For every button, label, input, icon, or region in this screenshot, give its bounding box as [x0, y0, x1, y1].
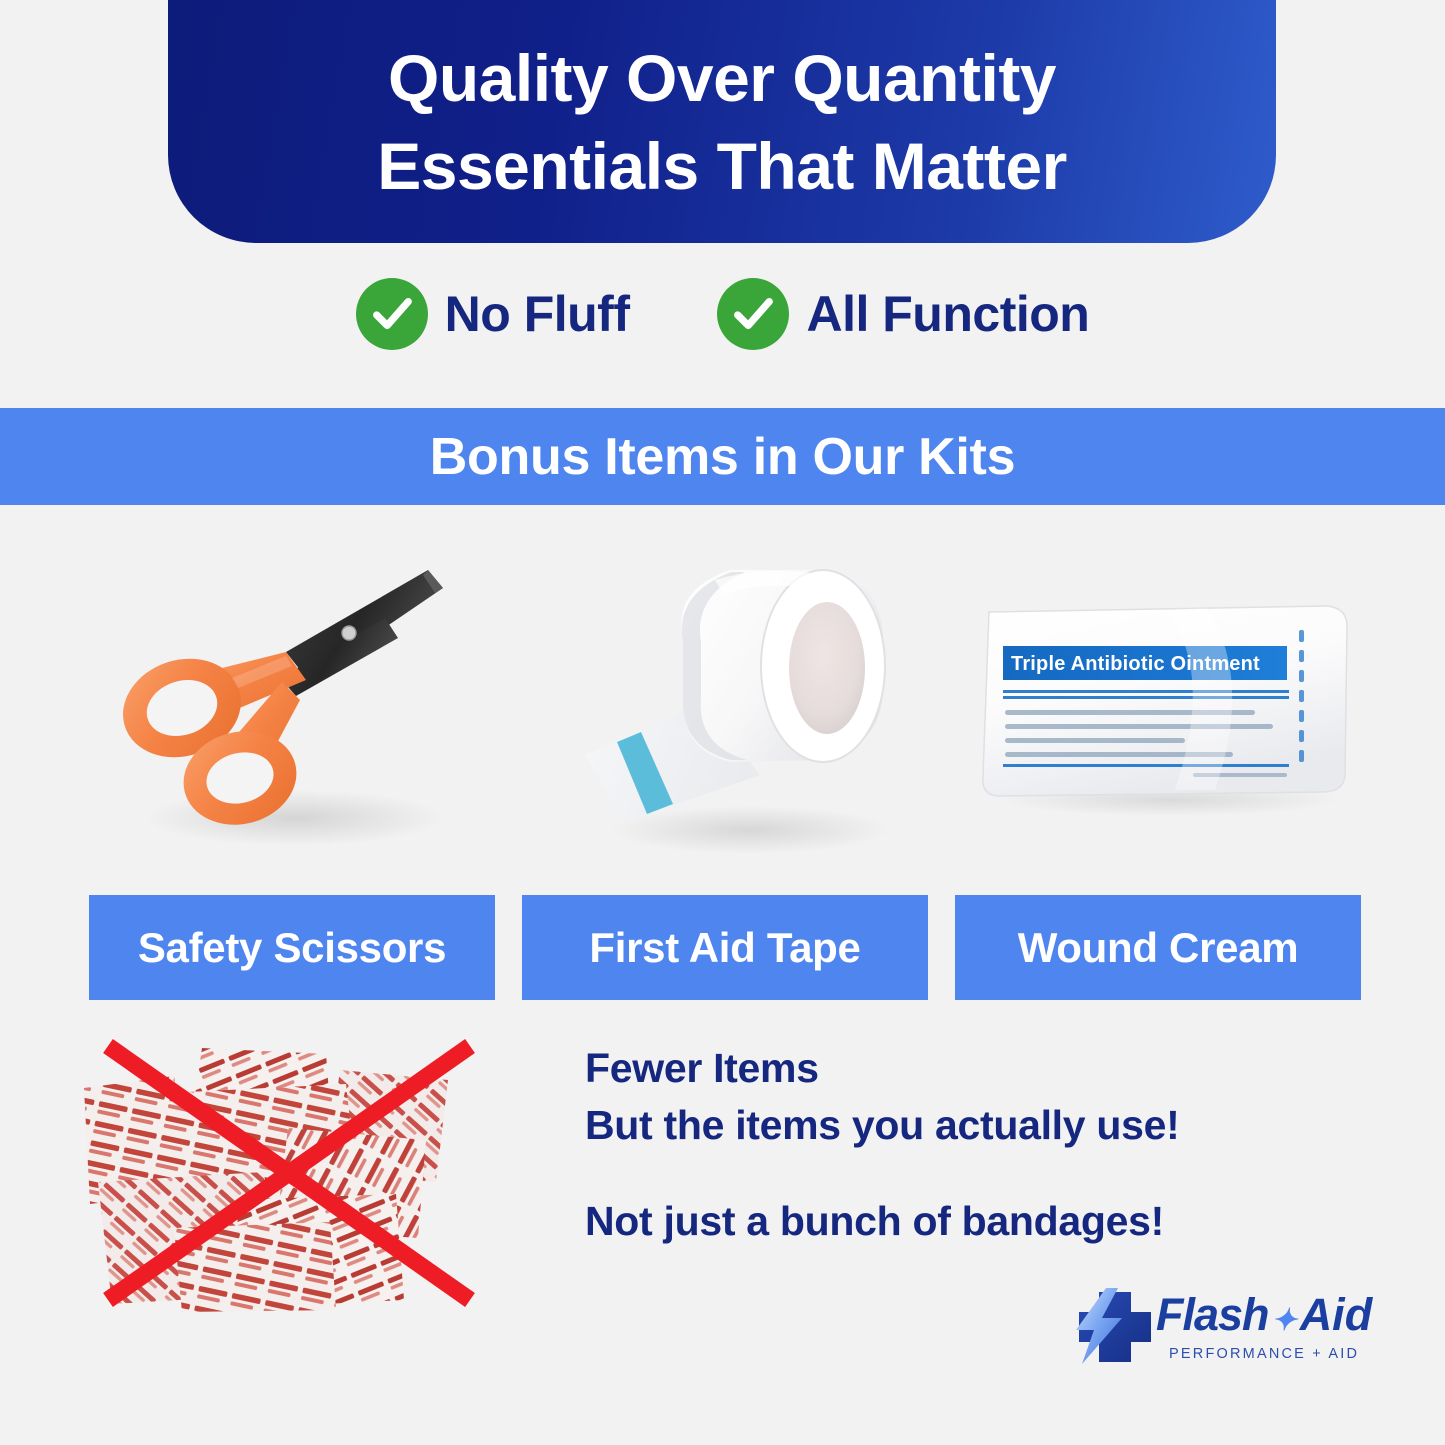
product-label-text: Wound Cream — [1018, 924, 1299, 972]
logo-word-flash: Flash — [1156, 1292, 1269, 1337]
benefits-row: No Fluff All Function — [0, 278, 1445, 350]
product-images-row: Triple Antibiotic Ointment — [0, 515, 1445, 895]
triple-antibiotic-ointment-packet-photo: Triple Antibiotic Ointment — [975, 600, 1355, 815]
benefit-item-no-fluff: No Fluff — [356, 278, 630, 350]
copy-closing-line: Not just a bunch of bandages! — [585, 1193, 1285, 1250]
bottom-copy-block: Fewer Items But the items you actually u… — [585, 1040, 1285, 1250]
safety-scissors-photo — [110, 560, 500, 860]
copy-line-2: But the items you actually use! — [585, 1097, 1285, 1154]
product-label-safety-scissors: Safety Scissors — [89, 895, 495, 1000]
benefit-label: No Fluff — [445, 285, 630, 343]
product-labels-row: Safety Scissors First Aid Tape Wound Cre… — [0, 895, 1445, 1003]
check-circle-icon — [717, 278, 789, 350]
infographic-page: Quality Over Quantity Essentials That Ma… — [0, 0, 1445, 1445]
product-label-wound-cream: Wound Cream — [955, 895, 1361, 1000]
copy-line-1: Fewer Items — [585, 1040, 1285, 1097]
product-label-text: First Aid Tape — [589, 924, 860, 972]
first-aid-tape-roll-photo — [555, 550, 915, 860]
pile-of-bandages-photo — [78, 1032, 498, 1312]
header-title-line-2: Essentials That Matter — [377, 123, 1067, 210]
header-banner: Quality Over Quantity Essentials That Ma… — [168, 0, 1276, 243]
bonus-items-banner: Bonus Items in Our Kits — [0, 408, 1445, 505]
header-title-line-1: Quality Over Quantity — [388, 35, 1056, 122]
bonus-items-title: Bonus Items in Our Kits — [430, 427, 1015, 487]
product-label-text: Safety Scissors — [138, 924, 446, 972]
product-label-first-aid-tape: First Aid Tape — [522, 895, 928, 1000]
benefit-item-all-function: All Function — [717, 278, 1089, 350]
logo-bolt-icon: ✦ — [1272, 1306, 1297, 1336]
logo-word-aid: Aid — [1300, 1292, 1373, 1337]
logo-wordmark: Flash ✦ Aid PERFORMANCE + AID — [1156, 1286, 1372, 1362]
benefit-label: All Function — [806, 285, 1089, 343]
flash-aid-logo: Flash ✦ Aid PERFORMANCE + AID — [1068, 1286, 1368, 1378]
check-circle-icon — [356, 278, 428, 350]
copy-spacer — [585, 1153, 1285, 1193]
flash-aid-cross-bolt-icon — [1068, 1286, 1154, 1366]
logo-word-row: Flash ✦ Aid — [1156, 1292, 1372, 1337]
logo-tagline: PERFORMANCE + AID — [1156, 1346, 1372, 1362]
